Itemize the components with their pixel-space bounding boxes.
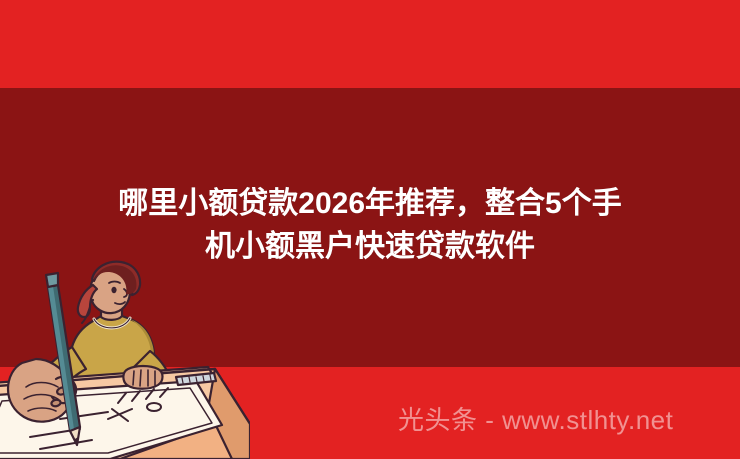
promo-image-card: 哪里小额贷款2026年推荐，整合5个手 机小额黑户快速贷款软件 (0, 0, 740, 459)
site-watermark: 光头条 - www.stlhty.net (398, 403, 718, 437)
background-band-top (0, 0, 740, 88)
page-title: 哪里小额贷款2026年推荐，整合5个手 机小额黑户快速贷款软件 (0, 182, 740, 268)
